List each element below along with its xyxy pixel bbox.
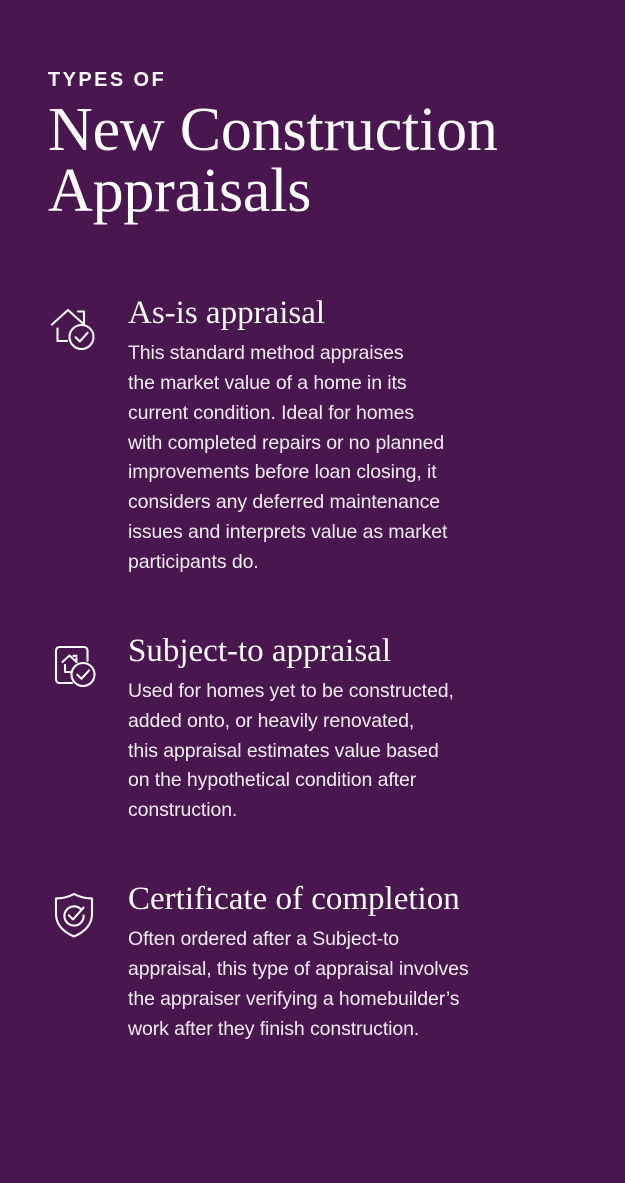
section-paragraph: This standard method appraises the marke… xyxy=(128,339,579,578)
section-paragraph: Used for homes yet to be constructed, ad… xyxy=(128,677,579,826)
section-as-is-appraisal: As-is appraisal This standard method app… xyxy=(48,295,579,578)
section-subject-to-appraisal: Subject-to appraisal Used for homes yet … xyxy=(48,633,579,826)
section-content: Certificate of completion Often ordered … xyxy=(128,881,579,1045)
shield-check-icon xyxy=(48,881,128,941)
page-title: New Construction Appraisals xyxy=(48,100,579,223)
section-heading: As-is appraisal xyxy=(128,295,579,331)
poster-header: TYPES OF New Construction Appraisals xyxy=(48,68,579,223)
section-paragraph: Often ordered after a Subject-to apprais… xyxy=(128,925,579,1044)
infographic-poster: TYPES OF New Construction Appraisals xyxy=(0,0,625,1183)
section-list: As-is appraisal This standard method app… xyxy=(48,295,579,1045)
house-check-icon xyxy=(48,295,128,355)
document-house-check-icon xyxy=(48,633,128,693)
section-content: Subject-to appraisal Used for homes yet … xyxy=(128,633,579,826)
eyebrow-label: TYPES OF xyxy=(48,68,579,92)
section-certificate-of-completion: Certificate of completion Often ordered … xyxy=(48,881,579,1045)
page-title-line-2: Appraisals xyxy=(48,161,579,222)
section-heading: Subject-to appraisal xyxy=(128,633,579,669)
page-title-line-1: New Construction xyxy=(48,100,579,161)
section-heading: Certificate of completion xyxy=(128,881,579,917)
section-content: As-is appraisal This standard method app… xyxy=(128,295,579,578)
